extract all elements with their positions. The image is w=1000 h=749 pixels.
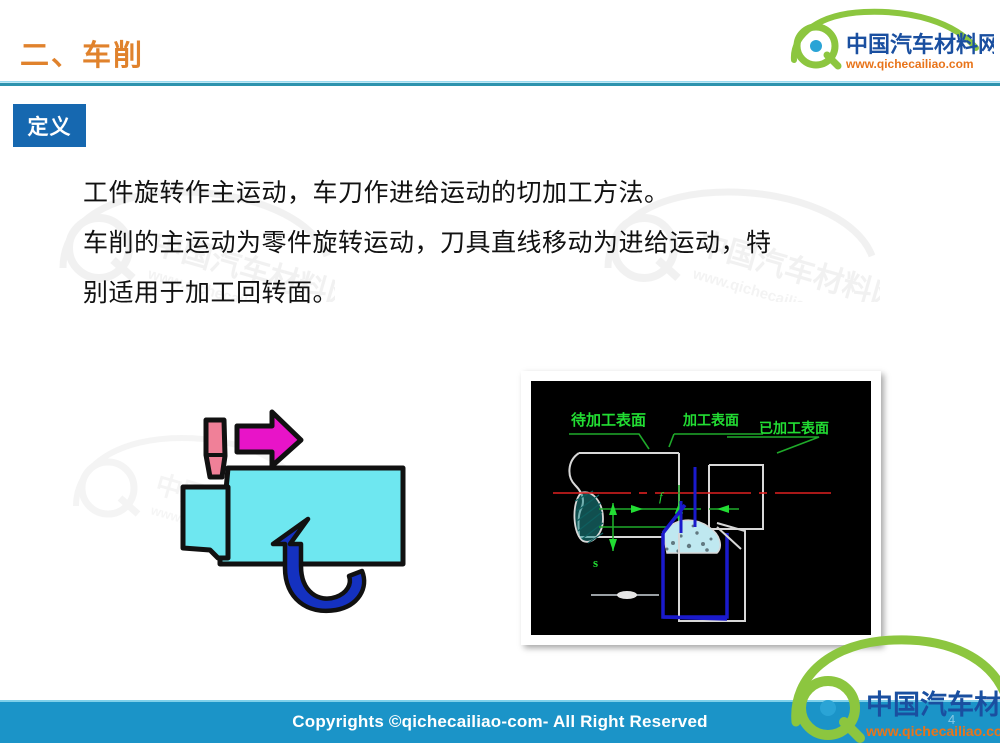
slide-root: 中国汽车材料网 www.qichecailiao.com 中国汽车材料网 www…: [0, 0, 1000, 749]
footer-brand-name-cn: 中国汽车材料网: [866, 689, 1000, 720]
dimension-depth-label: f: [659, 489, 665, 504]
definition-body: 工件旋转作主运动，车刀作进给运动的切加工方法。 车削的主运动为零件旋转运动，刀具…: [83, 168, 923, 318]
footer-brand-logo: 中国汽车材料网 www.qichecailiao.com: [784, 628, 1000, 746]
brand-name-cn: 中国汽车材料网: [846, 32, 994, 57]
label-machining-surface: 加工表面: [682, 412, 739, 428]
brand-logo: 中国汽车材料网 www.qichecailiao.com: [786, 8, 994, 72]
body-line-1: 工件旋转作主运动，车刀作进给运动的切加工方法。: [83, 168, 923, 218]
q-icon: [797, 27, 838, 66]
body-line-2: 车削的主运动为零件旋转运动，刀具直线移动为进给运动，特: [83, 218, 923, 268]
label-pre-machined-surface: 待加工表面: [571, 411, 646, 429]
definition-badge: 定义: [13, 104, 86, 147]
page-number: 4: [948, 712, 955, 727]
feed-direction-arrow: [237, 412, 301, 466]
turning-surfaces-photo: 待加工表面 加工表面 已加工表面: [521, 371, 881, 645]
label-leaders: [569, 434, 819, 453]
workpiece-step: [183, 487, 228, 558]
dimension-feed-label: s: [593, 555, 598, 570]
cutting-tool: [206, 420, 225, 477]
workpiece-small-diameter: [703, 465, 763, 529]
brand-url: www.qichecailiao.com: [845, 57, 974, 71]
footer-brand-url: www.qichecailiao.com: [865, 723, 1000, 739]
turning-surfaces-canvas: 待加工表面 加工表面 已加工表面: [531, 381, 871, 635]
page-title: 二、车削: [20, 32, 144, 74]
q-icon: [801, 681, 860, 738]
scale-marker: [591, 591, 659, 599]
label-machined-surface: 已加工表面: [759, 420, 829, 436]
header-divider: [0, 81, 1000, 86]
body-line-3: 别适用于加工回转面。: [83, 268, 923, 318]
workpiece-body: [220, 468, 403, 564]
chip-shape: [663, 520, 720, 553]
turning-schematic-diagram: [100, 398, 460, 650]
